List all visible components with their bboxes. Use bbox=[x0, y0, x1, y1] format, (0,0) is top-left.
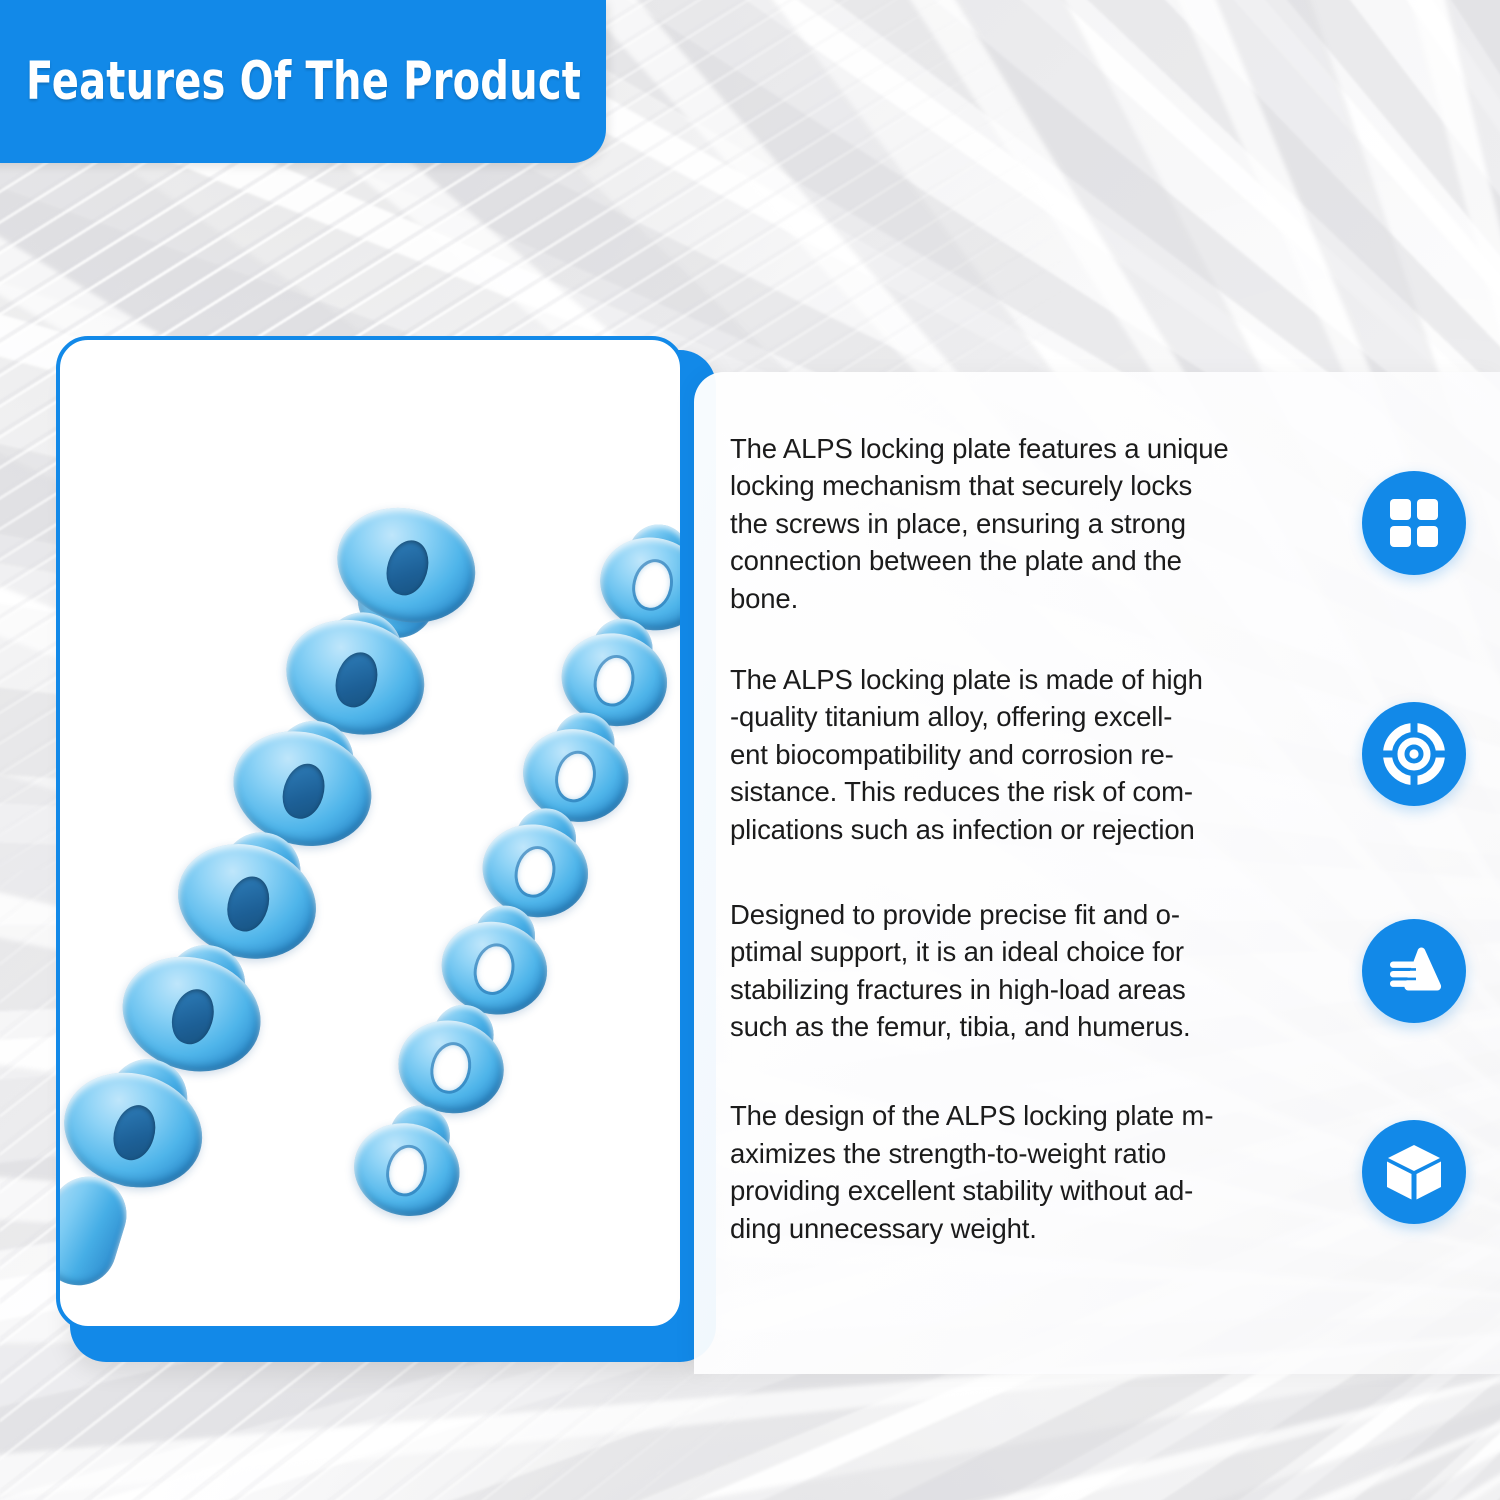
product-image-plate bbox=[56, 336, 684, 1330]
cube-box-icon bbox=[1362, 1120, 1466, 1224]
features-panel: The ALPS locking plate features a unique… bbox=[694, 372, 1500, 1374]
feature-item: The design of the ALPS locking plate m- … bbox=[730, 1097, 1466, 1247]
feature-text: The ALPS locking plate is made of high -… bbox=[730, 661, 1336, 848]
product-photo bbox=[60, 340, 680, 1326]
feature-item: The ALPS locking plate features a unique… bbox=[730, 430, 1466, 617]
grid-squares-icon bbox=[1362, 471, 1466, 575]
page-title: Features Of The Product bbox=[26, 51, 581, 112]
feature-item: The ALPS locking plate is made of high -… bbox=[730, 661, 1466, 848]
feature-text: The ALPS locking plate features a unique… bbox=[730, 430, 1336, 617]
features-list: The ALPS locking plate features a unique… bbox=[694, 372, 1500, 1374]
feature-item: Designed to provide precise fit and o- p… bbox=[730, 896, 1466, 1046]
feature-text: Designed to provide precise fit and o- p… bbox=[730, 896, 1336, 1046]
target-icon bbox=[1362, 702, 1466, 806]
strength-triangle-icon bbox=[1362, 919, 1466, 1023]
header-banner: Features Of The Product bbox=[0, 0, 606, 163]
infographic-page: Features Of The Product bbox=[0, 0, 1500, 1500]
product-image-card bbox=[56, 336, 716, 1362]
feature-text: The design of the ALPS locking plate m- … bbox=[730, 1097, 1336, 1247]
